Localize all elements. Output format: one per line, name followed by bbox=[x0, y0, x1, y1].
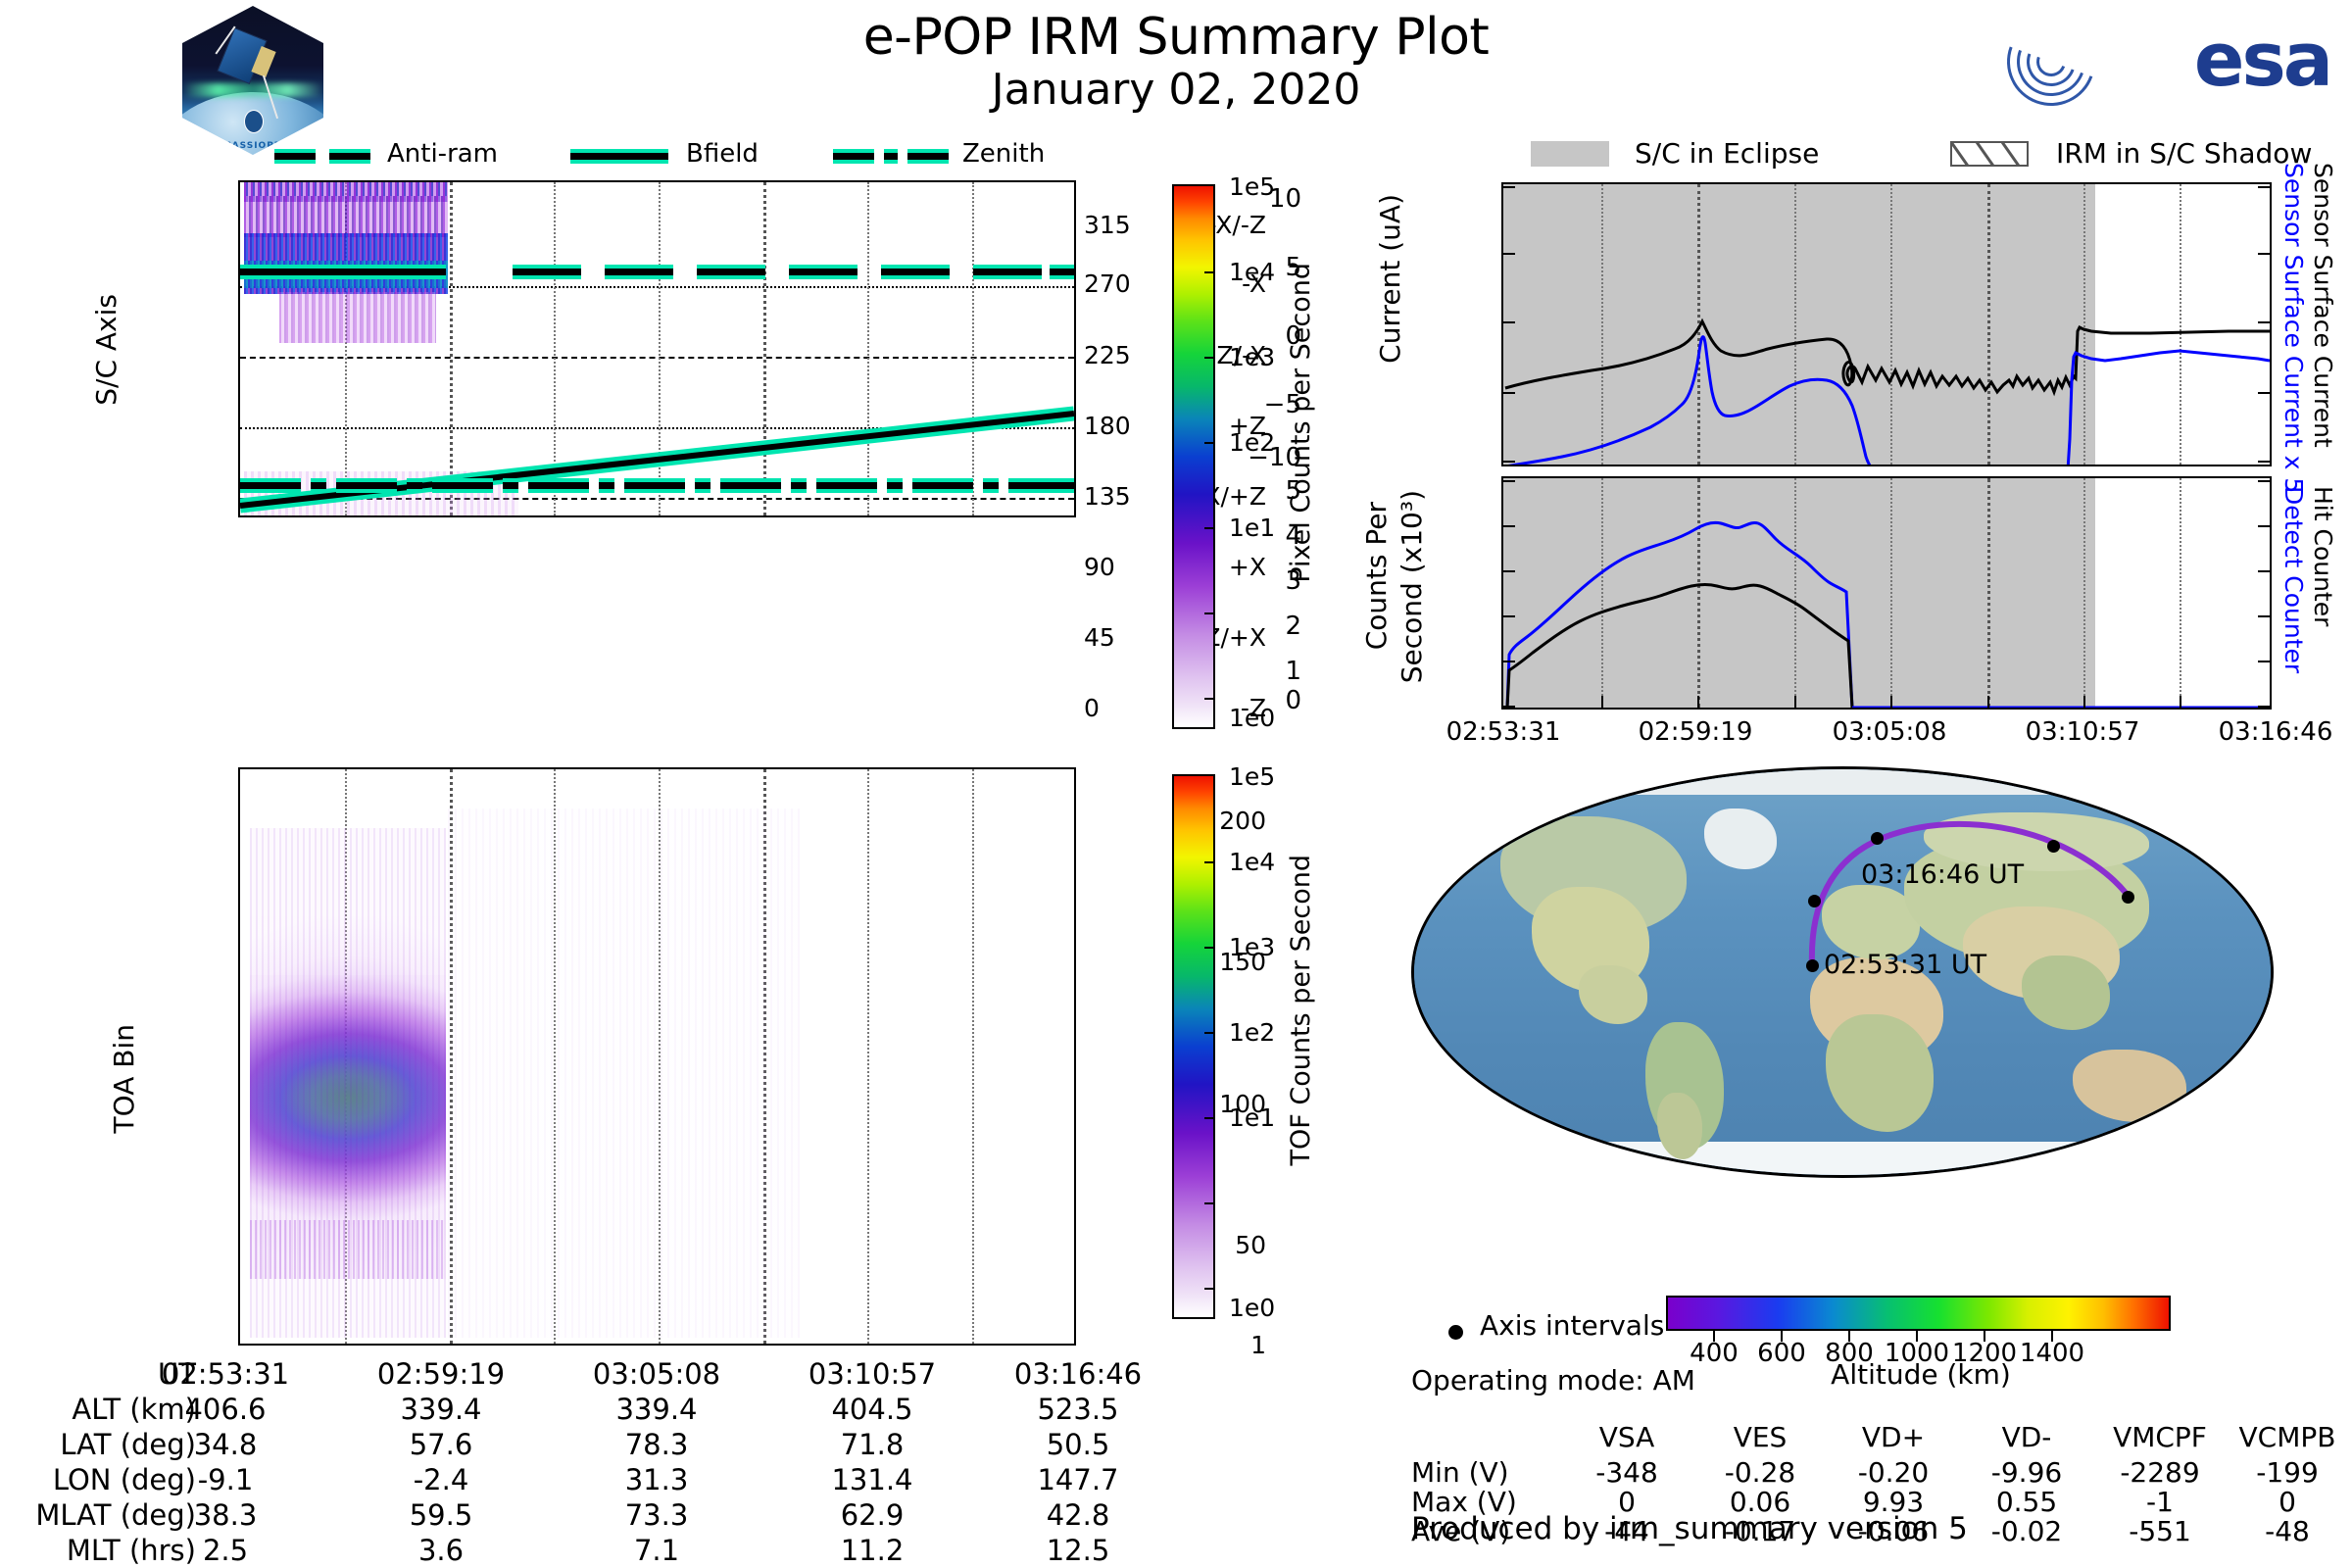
ephem-c2-lon: 31.3 bbox=[563, 1463, 750, 1496]
legend-label-eclipse: S/C in Eclipse bbox=[1635, 137, 1819, 170]
altitude-caption: Altitude (km) bbox=[1793, 1358, 2048, 1391]
sc-angle-ytick-4: 135 bbox=[1084, 482, 1172, 511]
counts-ytick-4: 4 bbox=[1184, 521, 1301, 551]
cbarB-tick-5: 1e0 bbox=[1229, 1294, 1275, 1322]
ephem-c1-lat: 57.6 bbox=[348, 1428, 534, 1461]
zenith-trace-dot bbox=[311, 482, 326, 489]
legend-label-bfield: Bfield bbox=[686, 139, 759, 169]
track-point-3 bbox=[2047, 840, 2060, 853]
current-ylabel: Current (uA) bbox=[1374, 194, 1439, 367]
time-tick-1: 02:59:19 bbox=[1597, 717, 1793, 747]
ephem-c1-lon: -2.4 bbox=[348, 1463, 534, 1496]
shadow-swatch bbox=[1950, 141, 2029, 167]
zenith-trace-dot bbox=[503, 482, 518, 489]
zenith-line-swatch-2 bbox=[907, 153, 949, 160]
ephem-c3-mlt: 11.2 bbox=[779, 1534, 965, 1567]
ephem-c1-ut: 02:59:19 bbox=[348, 1357, 534, 1391]
volt-ave-vcmpb: -48 bbox=[2209, 1515, 2352, 1547]
operating-mode-label: Operating mode: AM bbox=[1411, 1364, 1695, 1396]
ephem-c1-mlt: 3.6 bbox=[348, 1534, 534, 1567]
sc-axis-panel[interactable] bbox=[238, 180, 1076, 517]
sc-angle-ytick-5: 90 bbox=[1084, 553, 1172, 581]
zenith-trace-dot bbox=[983, 482, 999, 489]
cbarB-tick-3: 1e2 bbox=[1229, 1018, 1275, 1047]
counts-panel[interactable] bbox=[1501, 476, 2272, 710]
zenith-line-swatch bbox=[833, 153, 874, 160]
zenith-trace-dot bbox=[407, 482, 422, 489]
zenith-trace-dot bbox=[695, 482, 710, 489]
zenith-trace-seg bbox=[1008, 482, 1074, 489]
anti-ram-line-swatch bbox=[274, 153, 316, 160]
current-ytick-m10: −10 bbox=[1184, 443, 1301, 472]
page-title: e-POP IRM Summary Plot bbox=[588, 8, 1764, 67]
volt-max-vcmpb: 0 bbox=[2209, 1486, 2352, 1518]
bfield-line-swatch bbox=[570, 153, 668, 160]
ephem-c4-mlat: 42.8 bbox=[985, 1498, 1171, 1532]
zenith-trace-seg bbox=[528, 482, 589, 489]
zenith-trace-seg bbox=[624, 482, 685, 489]
zenith-dot-swatch bbox=[884, 153, 898, 160]
cbarB-tick-4: 1e1 bbox=[1229, 1103, 1275, 1132]
sc-angle-ytick-1: 270 bbox=[1084, 269, 1172, 298]
ephem-c3-lat: 71.8 bbox=[779, 1428, 965, 1461]
zenith-trace-dot bbox=[791, 482, 807, 489]
toa-bin-panel[interactable] bbox=[238, 767, 1076, 1346]
cassiope-mission-patch-icon: CASSIOPE bbox=[182, 6, 323, 155]
left-legend: Anti-ram Bfield Zenith bbox=[274, 137, 1019, 176]
current-right-label-black: Sensor Surface Current bbox=[2309, 163, 2352, 452]
ephem-c1-alt: 339.4 bbox=[348, 1393, 534, 1426]
track-point-start bbox=[1806, 959, 1819, 972]
counts-ytick-1: 1 bbox=[1184, 657, 1301, 686]
zenith-trace-seg bbox=[912, 482, 973, 489]
zenith-trace-seg bbox=[336, 482, 397, 489]
right-legend: S/C in Eclipse IRM in S/C Shadow bbox=[1490, 135, 2332, 172]
legend-label-anti-ram: Anti-ram bbox=[387, 139, 498, 169]
esa-logo: esa bbox=[2007, 14, 2330, 104]
ephem-c1-mlat: 59.5 bbox=[348, 1498, 534, 1532]
current-ytick-m5: −5 bbox=[1184, 390, 1301, 419]
counts-ytick-5: 5 bbox=[1184, 476, 1301, 506]
bfield-trace bbox=[240, 182, 1076, 517]
ephem-c4-lat: 50.5 bbox=[985, 1428, 1171, 1461]
cbarB-tick-2: 1e3 bbox=[1229, 933, 1275, 961]
sc-angle-ytick-6: 45 bbox=[1084, 623, 1172, 652]
ephem-c3-mlat: 62.9 bbox=[779, 1498, 965, 1532]
tof-counts-colorbar bbox=[1172, 774, 1215, 1319]
ephem-c3-lon: 131.4 bbox=[779, 1463, 965, 1496]
tof-counts-colorbar-label: TOF Counts per Second bbox=[1286, 855, 1316, 1170]
track-end-label: 03:16:46 UT bbox=[1861, 859, 2024, 890]
ephem-c0-ut: 02:53:31 bbox=[132, 1357, 318, 1391]
current-ytick-10: 10 bbox=[1184, 184, 1301, 214]
ephem-c0-lat: 34.8 bbox=[132, 1428, 318, 1461]
cbarB-tick-0: 1e5 bbox=[1229, 762, 1275, 791]
track-point-end bbox=[2122, 891, 2134, 904]
ephem-c0-mlt: 2.5 bbox=[132, 1534, 318, 1567]
zenith-trace-dot bbox=[599, 482, 614, 489]
cbarB-tick-1: 1e4 bbox=[1229, 848, 1275, 876]
track-point-1 bbox=[1808, 895, 1821, 907]
volt-header-vcmpb: VCMPB bbox=[2209, 1421, 2352, 1453]
zenith-trace-seg bbox=[816, 482, 877, 489]
ephem-c2-alt: 339.4 bbox=[563, 1393, 750, 1426]
current-traces bbox=[1503, 184, 2272, 466]
counts-ytick-0: 0 bbox=[1184, 686, 1301, 715]
zenith-trace-dot bbox=[887, 482, 903, 489]
axis-intervals-dot-icon bbox=[1448, 1325, 1463, 1340]
time-tick-3: 03:10:57 bbox=[1984, 717, 2180, 747]
legend-label-shadow: IRM in S/C Shadow bbox=[2056, 137, 2312, 170]
current-panel[interactable] bbox=[1501, 182, 2272, 466]
counts-right-label-black: Hit Counter bbox=[2309, 486, 2352, 630]
toa-bin-ylabel: TOA Bin bbox=[108, 1024, 172, 1140]
anti-ram-line-swatch-2 bbox=[329, 153, 370, 160]
ephem-c4-ut: 03:16:46 bbox=[985, 1357, 1171, 1391]
sc-angle-ytick-7: 0 bbox=[1084, 694, 1172, 722]
counts-ytick-3: 3 bbox=[1184, 566, 1301, 596]
time-tick-2: 03:05:08 bbox=[1791, 717, 1987, 747]
volt-min-vcmpb: -199 bbox=[2209, 1456, 2352, 1489]
eclipse-swatch bbox=[1531, 141, 1609, 167]
altitude-colorbar bbox=[1666, 1296, 2171, 1331]
time-tick-0: 02:53:31 bbox=[1405, 717, 1601, 747]
ground-track-map[interactable]: 02:53:31 UT 03:16:46 UT bbox=[1411, 766, 2274, 1178]
counts-ytick-2: 2 bbox=[1184, 612, 1301, 641]
zenith-trace-seg bbox=[720, 482, 781, 489]
zenith-trace-seg bbox=[432, 482, 493, 489]
produced-by-footer: Produced by irm_summary version 5 bbox=[1411, 1511, 1968, 1546]
sc-angle-ytick-3: 180 bbox=[1084, 412, 1172, 440]
ephem-c4-alt: 523.5 bbox=[985, 1393, 1171, 1426]
track-point-2 bbox=[1871, 832, 1884, 845]
ephem-c2-mlat: 73.3 bbox=[563, 1498, 750, 1532]
sc-angle-ytick-0: 315 bbox=[1084, 211, 1172, 239]
ephem-c2-mlt: 7.1 bbox=[563, 1534, 750, 1567]
time-tick-4: 03:16:46 bbox=[2178, 717, 2352, 747]
ephem-c2-lat: 78.3 bbox=[563, 1428, 750, 1461]
current-ytick-5: 5 bbox=[1184, 253, 1301, 282]
sc-axis-ylabel: S/C Axis bbox=[90, 294, 155, 413]
ephem-c4-mlt: 12.5 bbox=[985, 1534, 1171, 1567]
page-subtitle: January 02, 2020 bbox=[588, 65, 1764, 115]
ephem-c4-lon: 147.7 bbox=[985, 1463, 1171, 1496]
toa-ytick-1: 1 bbox=[1100, 1331, 1266, 1359]
counts-traces bbox=[1503, 478, 2272, 710]
counts-ylabel-line2: Second (x10³) bbox=[1396, 490, 1460, 687]
ephem-c0-mlat: 38.3 bbox=[132, 1498, 318, 1532]
ephem-c0-lon: -9.1 bbox=[132, 1463, 318, 1496]
ephem-c3-alt: 404.5 bbox=[779, 1393, 965, 1426]
zenith-trace-seg bbox=[240, 482, 301, 489]
ephem-c0-alt: 406.6 bbox=[132, 1393, 318, 1426]
ephem-c2-ut: 03:05:08 bbox=[563, 1357, 750, 1391]
axis-intervals-label: Axis intervals bbox=[1480, 1309, 1664, 1342]
legend-label-zenith: Zenith bbox=[962, 139, 1045, 169]
world-map: 02:53:31 UT 03:16:46 UT bbox=[1411, 766, 2274, 1178]
esa-wordmark: esa bbox=[2194, 16, 2330, 103]
current-ytick-0: 0 bbox=[1184, 321, 1301, 351]
ephem-c3-ut: 03:10:57 bbox=[779, 1357, 965, 1391]
track-start-label: 02:53:31 UT bbox=[1824, 950, 1986, 980]
sc-angle-ytick-2: 225 bbox=[1084, 341, 1172, 369]
